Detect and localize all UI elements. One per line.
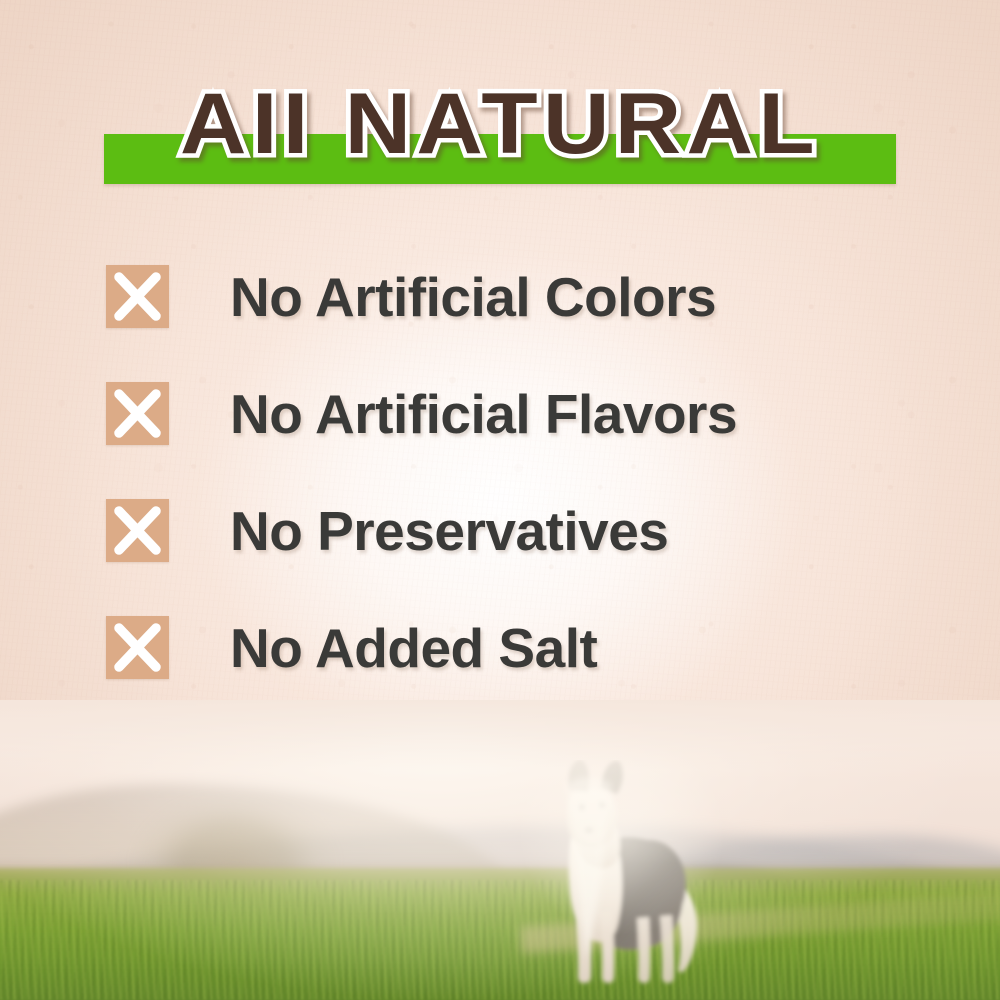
- list-item: No Added Salt: [106, 616, 926, 733]
- feature-label: No Added Salt: [230, 612, 597, 684]
- list-item: No Artificial Colors: [106, 265, 926, 382]
- page-title: AII NATURAL: [0, 72, 1000, 176]
- feature-list: No Artificial Colors No Artificial Flavo…: [106, 265, 926, 733]
- grass-blade-texture: [0, 880, 1000, 1000]
- feature-label: No Preservatives: [230, 495, 668, 567]
- x-mark-icon: [106, 265, 169, 328]
- list-item: No Preservatives: [106, 499, 926, 616]
- list-item: No Artificial Flavors: [106, 382, 926, 499]
- headline-banner: AII NATURAL: [0, 72, 1000, 196]
- feature-label: No Artificial Flavors: [230, 378, 737, 450]
- all-natural-feature-poster: AII NATURAL No Artificial Colors: [0, 0, 1000, 1000]
- landscape-photo: [0, 700, 1000, 1000]
- x-mark-icon: [106, 382, 169, 445]
- x-mark-icon: [106, 616, 169, 679]
- border-collie-dog: [527, 760, 717, 988]
- x-mark-icon: [106, 499, 169, 562]
- feature-label: No Artificial Colors: [230, 261, 716, 333]
